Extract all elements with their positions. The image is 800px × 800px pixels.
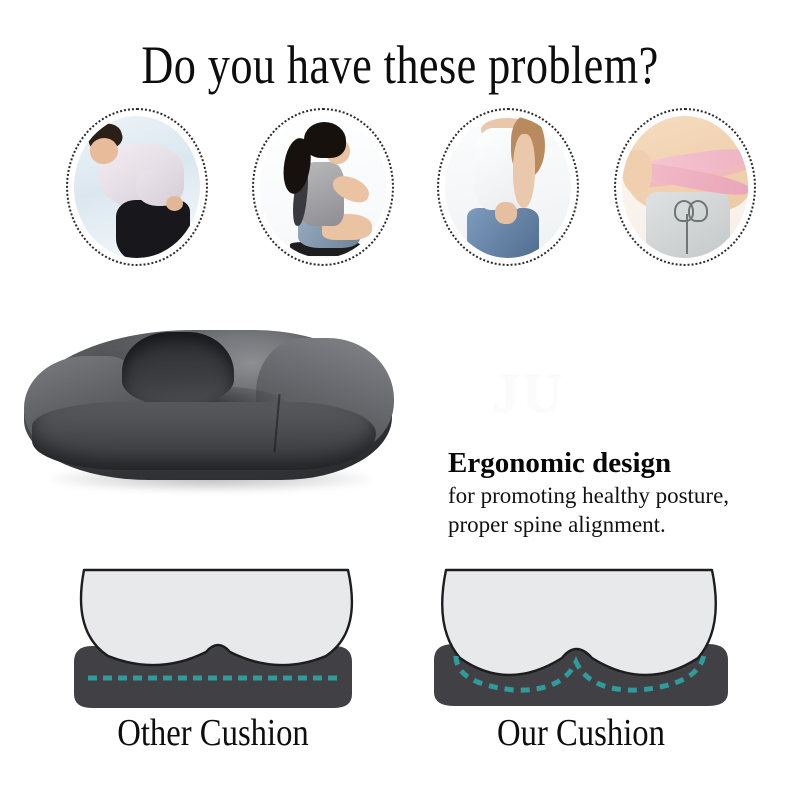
comparison-our-cushion: Our Cushion [416, 566, 756, 800]
comparison-label-our: Our Cushion [439, 714, 723, 752]
problem-circle-1 [66, 108, 208, 266]
dotted-ring-border [252, 108, 394, 266]
problem-circle-3 [437, 108, 579, 266]
feature-title: Ergonomic design [448, 448, 788, 478]
dotted-ring-border [437, 108, 579, 266]
page-title: Do you have these problem? [72, 38, 728, 92]
dotted-ring-border [614, 108, 756, 266]
dotted-ring-border [66, 108, 208, 266]
other-cushion-diagram [48, 566, 378, 716]
feature-line-2: proper spine alignment. [448, 511, 788, 540]
problem-circle-4 [614, 108, 756, 266]
problem-circle-row [0, 108, 800, 268]
comparison-other-cushion: Other Cushion [48, 566, 388, 800]
feature-line-1: for promoting healthy posture, [448, 482, 788, 511]
watermark: JU [492, 362, 564, 426]
our-cushion-diagram [416, 566, 746, 716]
feature-text-block: Ergonomic design for promoting healthy p… [448, 448, 788, 539]
cushion-front-edge [32, 402, 376, 470]
memory-foam-seat-cushion-photo [18, 316, 398, 496]
infographic-page: Do you have these problem? [0, 0, 800, 800]
comparison-section: Other Cushion Our Cushion [0, 566, 800, 800]
cushion-coccyx-cutout [122, 332, 234, 406]
comparison-label-other: Other Cushion [71, 714, 355, 752]
problem-circle-2 [252, 108, 394, 266]
